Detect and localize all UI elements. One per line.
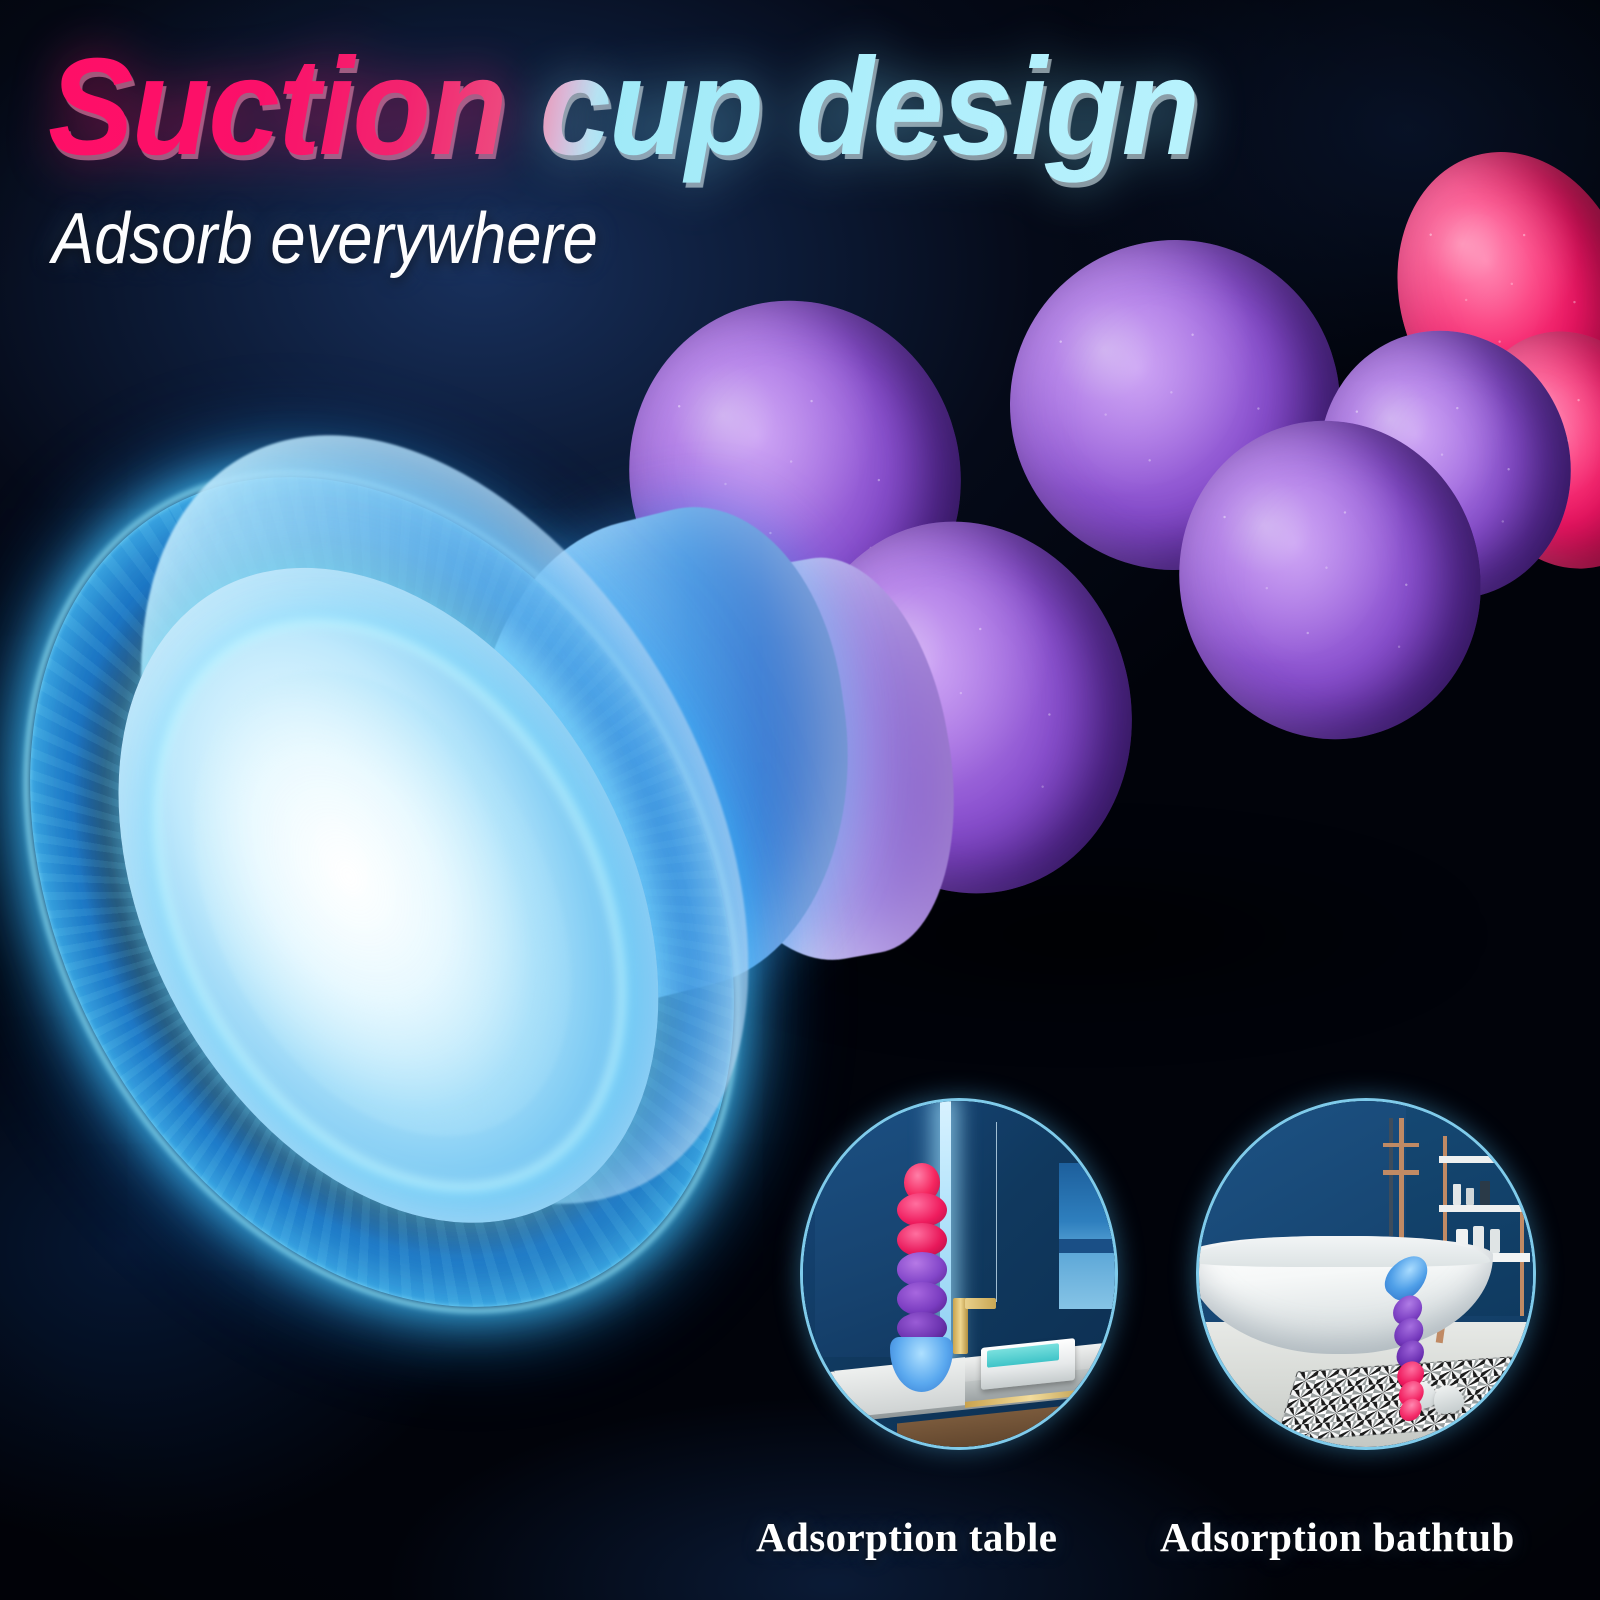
page-title-part-gradient: c [539, 30, 609, 184]
product-feature-banner: Suction cup design Adsorb everywhere [0, 0, 1600, 1600]
page-title: Suction cup design [48, 38, 1443, 178]
bath-bottle-6 [1490, 1229, 1501, 1253]
page-title-part-cyan: up design [609, 30, 1198, 184]
inset-product-suction-base [890, 1337, 954, 1392]
product-bead-purple-3 [971, 201, 1379, 609]
caption-adsorption-table: Adsorption table [756, 1513, 1057, 1561]
vanity-faucet-spout [965, 1298, 996, 1308]
bath-shelf-2 [1439, 1205, 1526, 1212]
bath-bottle-3 [1480, 1181, 1490, 1205]
suction-cup-face-ring [58, 537, 721, 1274]
vanity-window-sea [1059, 1239, 1118, 1253]
suction-cup-ring-texture [0, 352, 875, 1432]
bath-tap-crossbar-2 [1383, 1170, 1420, 1175]
product-bead-pink-2 [1441, 307, 1600, 593]
scene-bathroom-vanity [803, 1101, 1115, 1447]
caption-adsorption-bathtub: Adsorption bathtub [1160, 1513, 1515, 1561]
product-bead-purple-5 [1288, 301, 1600, 629]
vanity-rod [996, 1122, 997, 1302]
bath-bottle-2 [1466, 1188, 1473, 1205]
suction-cup-face [9, 473, 768, 1318]
suction-cup-face-inner [117, 605, 648, 1202]
bath-tap-post [1399, 1118, 1403, 1256]
page-title-part-pink: Suction [48, 30, 539, 184]
product-bead-purple-1 [588, 261, 1002, 688]
suction-cup-outer-edge [0, 344, 883, 1440]
page-subtitle: Adsorb everywhere [52, 198, 598, 280]
suction-cup-lip [16, 330, 873, 1308]
scene-bathtub [1199, 1101, 1533, 1447]
bath-bottle-1 [1453, 1184, 1461, 1205]
inset-adsorption-table [800, 1098, 1118, 1450]
product-flare [443, 475, 877, 1035]
product-drop-shadow [700, 840, 1460, 1030]
product-bead-purple-4 [1142, 385, 1519, 775]
bath-tap-crossbar-1 [1383, 1143, 1420, 1148]
product-neck [657, 540, 983, 979]
inset-product-standing [897, 1163, 947, 1391]
suction-cup-rim-glow [0, 352, 875, 1432]
product-bead-purple-2 [755, 482, 1176, 933]
bath-shelf-1 [1439, 1156, 1526, 1163]
suction-cup-assembly [0, 352, 875, 1432]
inset-adsorption-bathtub [1196, 1098, 1536, 1450]
vanity-window [1059, 1163, 1118, 1308]
bath-tap-vertical [1389, 1118, 1392, 1236]
